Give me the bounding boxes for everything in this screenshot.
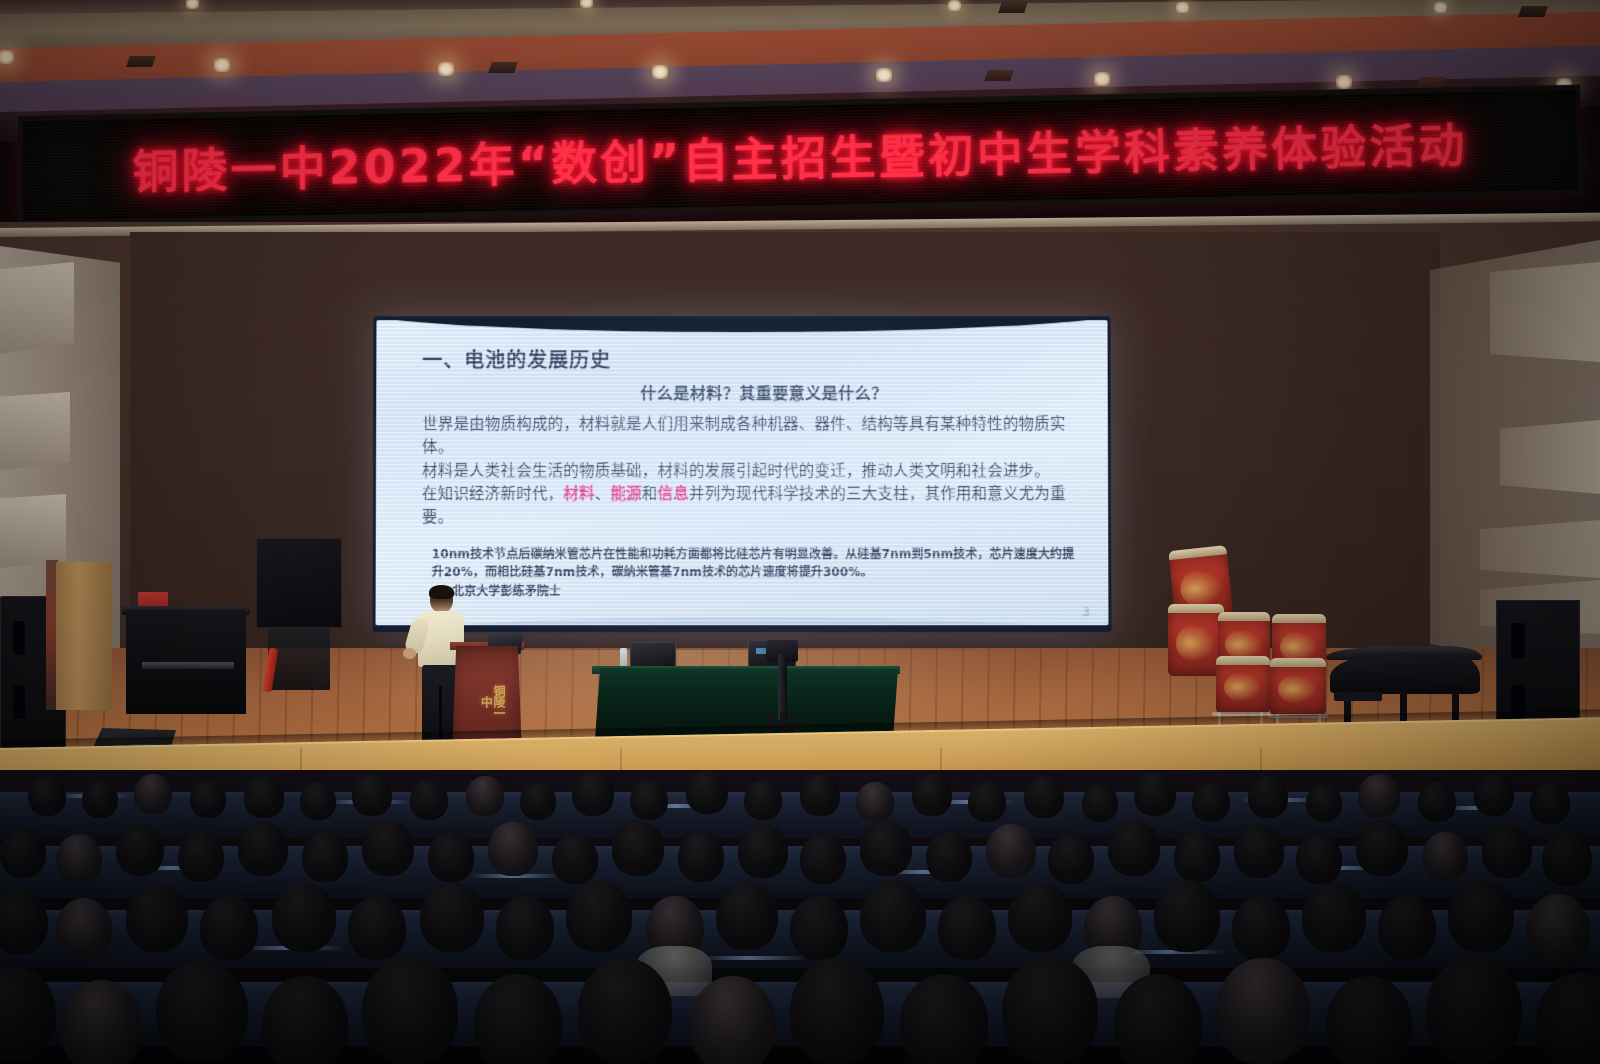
ceiling-downlight-icon	[186, 0, 199, 9]
audience-head	[1134, 772, 1176, 816]
audience-head	[348, 896, 406, 960]
audience-head	[900, 974, 988, 1064]
audience-head	[566, 880, 632, 952]
led-banner-text: 铜陵一中2022年“数创”自主招生暨初中生学科素养体验活动	[122, 109, 1478, 202]
speaker-port	[13, 621, 25, 655]
audience-head	[420, 882, 484, 952]
slide-quote-body: 10nm技术节点后碳纳米管芯片在性能和功耗方面都将比硅芯片有明显改善。从硅基7n…	[432, 547, 1075, 579]
projection-screen: 一、电池的发展历史 什么是材料？其重要意义是什么？ 世界是由物质构成的，材料就是…	[376, 320, 1109, 625]
audience-head	[362, 956, 458, 1064]
drum-head	[1272, 614, 1326, 623]
slide-title: 一、电池的发展历史	[422, 344, 1081, 373]
audience-head	[1192, 782, 1230, 822]
audience-head	[520, 782, 556, 820]
audience-head	[552, 834, 598, 884]
audience-head	[82, 780, 118, 818]
audience-head	[1234, 824, 1284, 878]
audience-head	[56, 834, 102, 884]
ceiling-downlight-icon	[948, 0, 961, 11]
audience-head	[60, 980, 142, 1064]
audience-head	[686, 770, 728, 814]
audience-head	[1526, 894, 1590, 964]
slide-paragraph-1: 世界是由物质构成的，材料就是人们用来制成各种机器、器件、结构等具有某种特性的物质…	[422, 413, 1082, 459]
audience-head	[578, 958, 672, 1064]
ceiling-vent	[1416, 77, 1446, 88]
audience-head	[938, 896, 996, 960]
audience-head	[968, 782, 1006, 822]
audience-head	[302, 832, 348, 882]
ceiling-downlight-icon	[0, 50, 14, 64]
audience-head	[986, 824, 1036, 878]
audience-head	[800, 774, 840, 816]
slide-p3-sep-2: 和	[642, 485, 658, 503]
audience-head	[178, 832, 224, 882]
audience-head	[466, 776, 504, 816]
drum-head	[1168, 604, 1224, 613]
wall-display-monitor	[256, 538, 342, 628]
audience-head	[488, 822, 538, 876]
audience-head	[156, 960, 248, 1062]
audience-head	[1002, 956, 1098, 1064]
audience-head	[1082, 784, 1118, 822]
audience-head	[1216, 958, 1310, 1064]
audience-head	[690, 976, 776, 1064]
audience-head	[300, 782, 336, 820]
audience-head	[474, 974, 562, 1064]
wall-fin-left	[0, 494, 66, 568]
grand-piano	[1330, 652, 1480, 694]
audience-head	[856, 782, 894, 822]
speaker-port	[13, 685, 25, 719]
drum-pattern	[1224, 672, 1263, 702]
audience-head	[1426, 956, 1522, 1064]
drum-pattern	[1278, 674, 1318, 704]
audience-head	[790, 896, 848, 960]
presenter-hand	[403, 648, 416, 659]
audience-head	[1422, 832, 1468, 882]
audience-head	[1418, 782, 1456, 822]
audience-head	[912, 774, 952, 816]
monitor-stand	[268, 628, 330, 690]
seated-audience	[0, 770, 1600, 1064]
ceiling-downlight-icon	[652, 65, 668, 79]
drum-head	[1270, 658, 1326, 667]
audience-head	[496, 896, 554, 960]
ceiling-downlight-icon	[438, 62, 454, 76]
audience-head	[1008, 882, 1072, 952]
slide-subtitle: 什么是材料？其重要意义是什么？	[446, 380, 1082, 404]
audience-head	[612, 820, 664, 876]
audience-head	[238, 822, 288, 876]
piano-bench	[1334, 692, 1382, 701]
audience-head	[352, 774, 392, 816]
audience-head	[1232, 896, 1290, 960]
audience-head	[926, 832, 972, 882]
ceiling-downlight-icon	[876, 68, 892, 82]
slide-highlight-material: 材料	[563, 485, 594, 503]
audience-head	[1024, 776, 1064, 818]
slide-quote: 10nm技术节点后碳纳米管芯片在性能和功耗方面都将比硅芯片有明显改善。从硅基7n…	[432, 545, 1083, 600]
audience-head	[0, 828, 46, 878]
audience-head	[0, 966, 56, 1062]
audience-head	[56, 898, 112, 960]
drum-pattern	[1179, 567, 1225, 610]
slide-page-number: 3	[1082, 605, 1090, 619]
audience-head	[1448, 880, 1514, 952]
audience-head	[410, 780, 448, 820]
audience-head	[244, 776, 284, 818]
seat-highlight	[700, 956, 808, 960]
ceiling-vent	[126, 56, 156, 67]
audience-head	[800, 834, 846, 884]
audience-head	[738, 824, 788, 878]
wall-fin-right	[1490, 262, 1600, 362]
audience-head	[716, 882, 778, 950]
ceiling-downlight-icon	[1176, 2, 1189, 13]
slide-highlight-energy: 能源	[610, 485, 641, 503]
audience-head	[1378, 896, 1436, 960]
ceiling-vent	[488, 62, 518, 73]
audience-head	[116, 824, 164, 876]
audience-head	[572, 772, 614, 816]
audience-head	[790, 958, 884, 1064]
audience-head	[0, 890, 48, 954]
audience-head	[28, 776, 66, 816]
audience-head	[1474, 774, 1514, 816]
audience-head	[262, 976, 348, 1064]
ceiling-vent	[998, 2, 1028, 13]
ceiling-downlight-icon	[1434, 2, 1447, 13]
audience-head	[744, 780, 782, 820]
presenter-hair	[429, 585, 454, 599]
wall-fin-left	[0, 262, 74, 354]
ceiling-downlight-icon	[1336, 75, 1352, 89]
audience-head	[678, 832, 724, 882]
audience-head	[134, 774, 172, 814]
speaker-port	[1511, 623, 1525, 659]
side-door[interactable]	[56, 562, 112, 710]
chinese-drum	[1216, 656, 1270, 714]
ceiling-downlight-icon	[1094, 72, 1110, 86]
audience-head	[860, 820, 912, 876]
audience-head	[1302, 882, 1366, 952]
lectern-emblem: 铜陵一中	[469, 680, 505, 722]
drum-head	[1218, 612, 1270, 621]
audience-head	[362, 820, 414, 876]
audience-head	[1248, 776, 1288, 818]
audience-head	[126, 884, 188, 952]
drum-head	[1216, 656, 1270, 665]
slide-quote-attribution: ----北京大学彭练矛院士	[432, 582, 1083, 600]
wall-fin-left	[0, 392, 70, 470]
projection-screen-frame: 一、电池的发展历史 什么是材料？其重要意义是什么？ 世界是由物质构成的，材料就是…	[372, 316, 1111, 632]
drum-pattern	[1176, 624, 1216, 661]
audience-head	[1108, 820, 1160, 876]
presentation-slide: 一、电池的发展历史 什么是材料？其重要意义是什么？ 世界是由物质构成的，材料就是…	[376, 320, 1109, 625]
audience-head	[630, 780, 668, 820]
audience-head	[1154, 880, 1220, 952]
audience-head	[1542, 832, 1592, 886]
audience-head	[1358, 774, 1400, 818]
audience-head	[1306, 784, 1342, 822]
chinese-drum	[1270, 658, 1326, 716]
audience-head	[1326, 976, 1412, 1064]
slide-highlight-information: 信息	[658, 485, 689, 503]
slide-p3-prefix: 在知识经济新时代，	[422, 485, 563, 503]
audience-head	[1356, 820, 1408, 876]
slide-paragraph-3: 在知识经济新时代，材料、能源和信息并列为现代科学技术的三大支柱，其作用和意义尤为…	[422, 483, 1082, 530]
audience-head	[1048, 834, 1094, 884]
audience-head	[200, 896, 258, 960]
slide-paragraph-2: 材料是人类社会生活的物质基础，材料的发展引起时代的变迁，推动人类文明和社会进步。	[422, 460, 1082, 483]
tripod-column	[778, 654, 787, 720]
audience-head	[1174, 832, 1220, 882]
ceiling-downlight-icon	[580, 0, 593, 8]
audience-head	[1114, 974, 1202, 1064]
audience-head	[428, 832, 474, 882]
ceiling-vent	[1518, 6, 1548, 17]
auditorium-scene: 铜陵一中2022年“数创”自主招生暨初中生学科素养体验活动 一、电池的发展历史 …	[0, 0, 1600, 1064]
wall-fin-right	[1480, 520, 1600, 578]
slide-p3-sep-1: 、	[595, 485, 611, 503]
ceiling-vent	[984, 70, 1014, 81]
audience-head	[860, 880, 926, 952]
wall-fin-right	[1500, 420, 1600, 494]
audience-head	[190, 780, 226, 818]
audience-head	[272, 882, 336, 952]
audience-head	[1530, 782, 1570, 824]
audience-head	[1296, 834, 1342, 884]
piano-keyboard	[142, 662, 234, 669]
ceiling-downlight-icon	[214, 58, 230, 72]
audience-head	[1482, 824, 1532, 878]
